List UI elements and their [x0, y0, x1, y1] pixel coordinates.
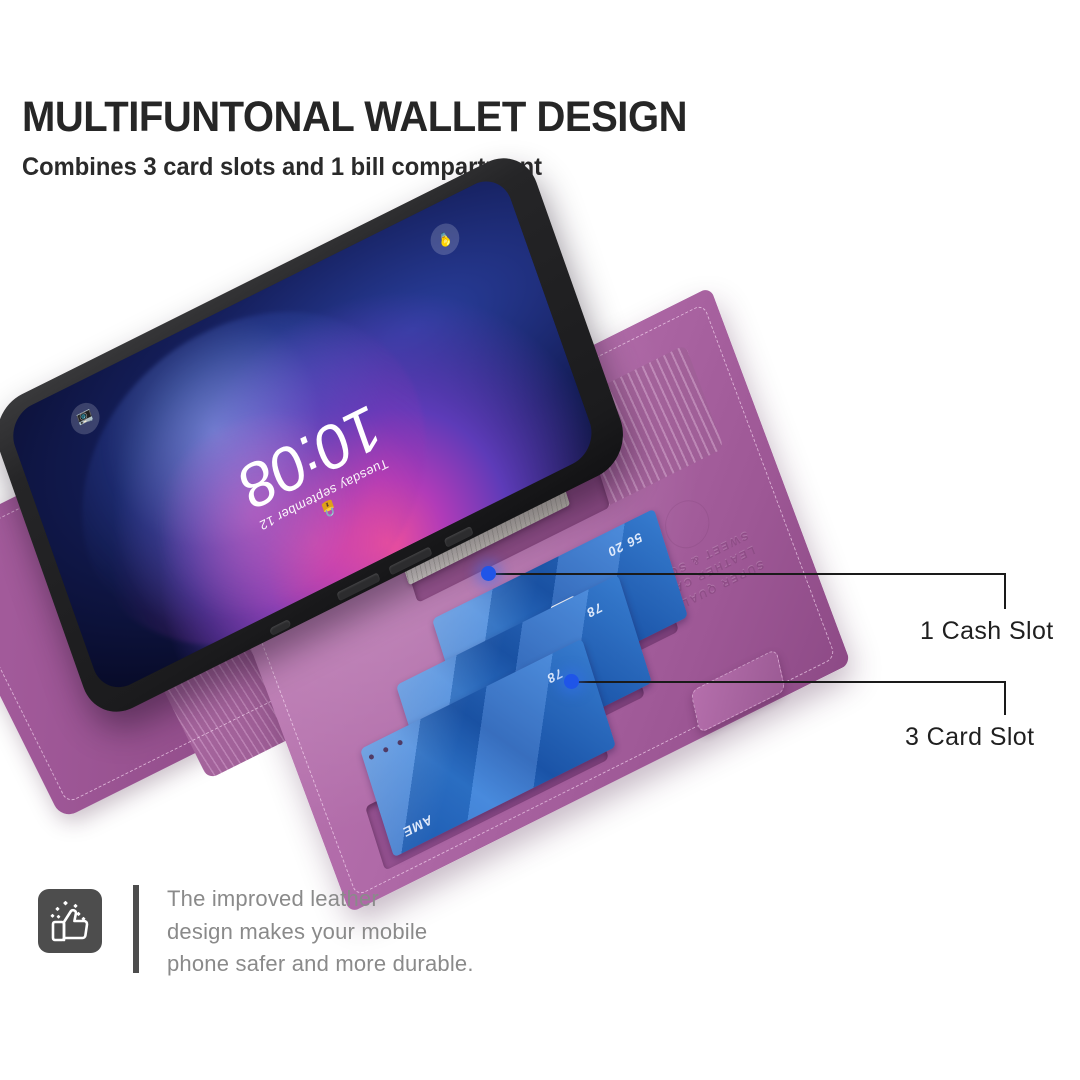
feature-line-2: design makes your mobile [167, 916, 474, 949]
header-block: MULTIFUNTONAL WALLET DESIGN Combines 3 c… [22, 96, 737, 182]
card-1-label: AME [401, 812, 434, 841]
product-image: SUPER QUALITY LEATHER CASE SWEET & SOFT … [0, 250, 920, 850]
callout-label-card-slot: 3 Card Slot [905, 723, 1034, 752]
page-subtitle: Combines 3 card slots and 1 bill compart… [22, 154, 701, 182]
flashlight-icon[interactable]: 💡 [426, 218, 463, 260]
card-3-sublabel: 56 20 [606, 529, 644, 560]
callout-anchor-cash-slot [481, 566, 496, 581]
feature-block: The improved leather design makes your m… [38, 883, 474, 981]
card-1-sublabel: 78 [545, 666, 564, 688]
card-2-sublabel: 78 [584, 600, 603, 622]
callout-label-cash-slot: 1 Cash Slot [920, 617, 1054, 646]
camera-icon[interactable]: 📷 [67, 397, 104, 439]
page-title: MULTIFUNTONAL WALLET DESIGN [22, 96, 687, 139]
callout-anchor-card-slot [564, 674, 579, 689]
feature-line-1: The improved leather [167, 883, 474, 916]
feature-description: The improved leather design makes your m… [167, 883, 474, 981]
feature-line-3: phone safer and more durable. [167, 948, 474, 981]
thumbs-up-sparkle-icon [38, 889, 102, 953]
feature-divider [133, 885, 139, 973]
